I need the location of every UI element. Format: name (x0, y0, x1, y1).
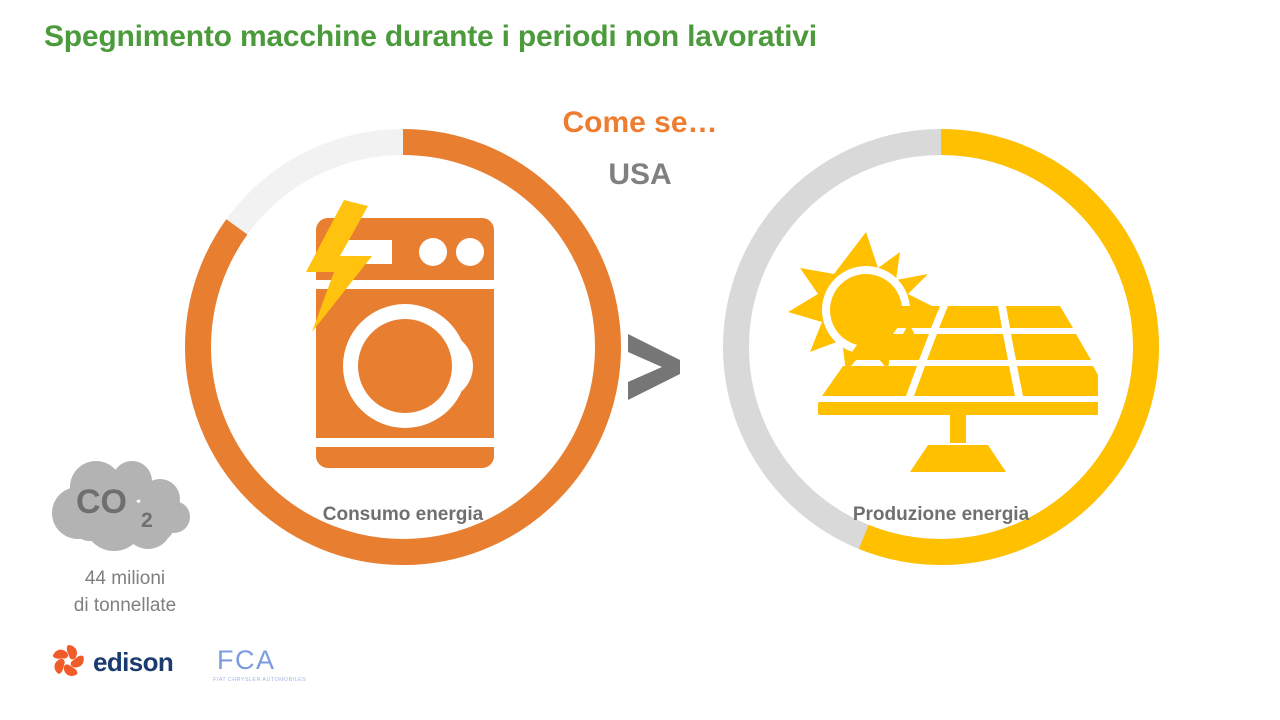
co2-formula-main: CO (76, 483, 127, 521)
washing-machine-icon (276, 200, 506, 490)
edison-logo: edison (46, 641, 191, 681)
co2-formula-subscript: 2 (141, 509, 153, 532)
edison-wordmark: edison (93, 647, 173, 677)
co2-caption-line1: 44 milioni (20, 565, 230, 592)
co2-caption: 44 milioni di tonnellate (20, 565, 230, 619)
donut-produzione-energia: Produzione energia (706, 112, 1176, 582)
page-title: Spegnimento macchine durante i periodi n… (44, 20, 817, 54)
donut-consumo-energia: Consumo energia (168, 112, 638, 582)
solar-panel-icon (788, 232, 1098, 477)
fca-logo: FCA FIAT CHRYSLER AUTOMOBILES (211, 643, 319, 685)
slide-canvas: Spegnimento macchine durante i periodi n… (0, 0, 1280, 720)
donut-label-produzione: Produzione energia (706, 504, 1176, 526)
co2-caption-line2: di tonnellate (20, 592, 230, 619)
co2-cloud-icon: CO 2 (44, 455, 204, 565)
donut-label-consumo: Consumo energia (168, 504, 638, 526)
fca-wordmark: FCA (217, 645, 276, 675)
fca-tagline: FIAT CHRYSLER AUTOMOBILES (213, 677, 306, 683)
